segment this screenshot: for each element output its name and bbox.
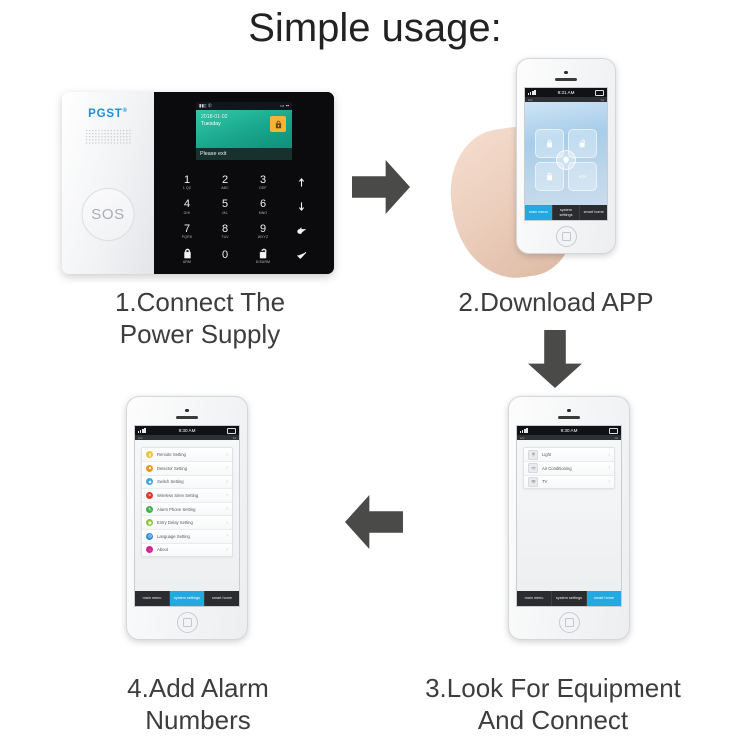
home-button[interactable] <box>177 612 198 633</box>
keypad-key-arm[interactable]: ARM <box>168 244 206 269</box>
list-item[interactable]: Alarm Phone Setting › <box>142 503 232 517</box>
back-arrow-icon[interactable] <box>282 219 320 244</box>
info-icon <box>146 546 153 553</box>
phone-icon <box>146 506 153 513</box>
keypad-key-4-label: 4 <box>184 199 190 210</box>
tab-main-menu[interactable]: main menu <box>525 205 553 220</box>
list-item-label: Entry Delay Setting <box>157 520 226 525</box>
list-item-label: Language Setting <box>157 534 226 539</box>
check-icon[interactable] <box>282 244 320 269</box>
phone-system-settings: 9:30 AM ▪▪▪▪▪▪▪ Remote Setting › <box>126 396 248 640</box>
tab-system-settings[interactable]: system settings <box>552 591 587 606</box>
status-sub-right: ▪▪▪ <box>601 98 604 102</box>
alarm-panel-right-face: ▮▮▯ ✆ ▭ ▪▪ 2018-01-02 Tuesday Please exi… <box>154 92 334 274</box>
phone-body: 9:30 AM ▪▪▪▪▪▪▪ Remote Setting › <box>126 396 248 640</box>
bottom-tab-bar[interactable]: main menu system settings smart home <box>517 591 621 606</box>
ac-icon <box>528 463 538 473</box>
alarm-panel-left-face: PGST® SOS <box>62 92 154 274</box>
tab-main-menu[interactable]: main menu <box>135 591 170 606</box>
status-sub-right: ▪▪▪ <box>615 436 618 440</box>
signal-icon <box>138 428 146 433</box>
lcd-bezel: ▮▮▯ ✆ ▭ ▪▪ 2018-01-02 Tuesday Please exi… <box>154 92 334 166</box>
keypad[interactable]: 11 QZ 2ABC 3DEF 4GHI 5JKL 6MNO 7PQRS 8TU… <box>154 166 334 274</box>
list-item[interactable]: About › <box>142 544 232 557</box>
keypad-key-5-label: 5 <box>222 199 228 210</box>
sos-button-label: SOS <box>91 206 124 223</box>
list-item-label: About <box>157 547 226 552</box>
list-item[interactable]: Air Conditioning › <box>524 462 614 476</box>
keypad-key-3-sub: DEF <box>259 186 266 190</box>
keypad-key-8-sub: TUV <box>221 235 228 239</box>
keypad-key-6-label: 6 <box>260 199 266 210</box>
tab-main-menu[interactable]: main menu <box>517 591 552 606</box>
chevron-right-icon: › <box>226 506 228 512</box>
list-item[interactable]: Switch Setting › <box>142 476 232 490</box>
chevron-right-icon: › <box>226 533 228 539</box>
arrow-up-icon[interactable] <box>282 170 320 195</box>
list-item-label: Wireless Siren Setting <box>157 493 226 498</box>
speaker-grille <box>85 129 131 145</box>
list-item[interactable]: Entry Delay Setting › <box>142 516 232 530</box>
phone-main-menu: 9:31 AM ▪▪▪▪▪▪▪ <box>516 58 616 254</box>
status-bar-top: 9:30 AM <box>135 426 239 435</box>
lcd-screen: ▮▮▯ ✆ ▭ ▪▪ 2018-01-02 Tuesday Please exi… <box>195 101 293 161</box>
globe-icon <box>146 533 153 540</box>
keypad-key-9-label: 9 <box>260 224 266 235</box>
status-bar: 9:31 AM ▪▪▪▪▪▪▪ <box>525 88 607 102</box>
list-item[interactable]: TV › <box>524 476 614 489</box>
tab-system-settings[interactable]: system settings <box>553 205 581 220</box>
keypad-key-3-label: 3 <box>260 175 266 186</box>
chevron-right-icon: › <box>226 520 228 526</box>
arrow-down-icon <box>528 330 582 388</box>
siren-icon <box>146 492 153 499</box>
camera-icon <box>564 71 567 74</box>
lock-icon <box>270 116 286 132</box>
phone-body: 9:31 AM ▪▪▪▪▪▪▪ <box>516 58 616 254</box>
home-button[interactable] <box>559 612 580 633</box>
earpiece-speaker <box>555 78 577 81</box>
list-item-label: Light <box>542 452 608 457</box>
phone-screen: 9:31 AM ▪▪▪▪▪▪▪ <box>524 87 608 221</box>
keypad-key-7-label: 7 <box>184 224 190 235</box>
keypad-key-0-label: 0 <box>222 250 228 261</box>
list-item-label: Air Conditioning <box>542 466 608 471</box>
pgst-logo: PGST® <box>88 108 128 120</box>
status-clock: 9:30 AM <box>561 428 578 433</box>
chevron-right-icon: › <box>226 465 228 471</box>
keypad-key-2[interactable]: 2ABC <box>206 170 244 195</box>
battery-icon <box>609 428 618 434</box>
status-bar: 9:30 AM ▪▪▪▪▪▪▪ <box>135 426 239 440</box>
chevron-right-icon: › <box>226 479 228 485</box>
keypad-key-7[interactable]: 7PQRS <box>168 219 206 244</box>
remote-icon <box>146 451 153 458</box>
chevron-right-icon: › <box>226 492 228 498</box>
keypad-key-0[interactable]: 0 <box>206 244 244 269</box>
phone-screen: 9:30 AM ▪▪▪▪▪▪▪ Remote Setting › <box>134 425 240 607</box>
smart-home-list: Light › Air Conditioning › TV › <box>523 447 615 489</box>
keypad-key-4-sub: GHI <box>184 211 191 215</box>
list-item[interactable]: Light › <box>524 448 614 462</box>
signal-icon <box>520 428 528 433</box>
chevron-right-icon: › <box>608 479 610 485</box>
keypad-key-disarm-sub: DISARM <box>256 260 270 264</box>
status-bar-top: 9:30 AM <box>517 426 621 435</box>
phone-screen: 9:30 AM ▪▪▪▪▪▪▪ Light › Ai <box>516 425 622 607</box>
status-clock: 9:31 AM <box>558 90 575 95</box>
bulb-icon <box>528 450 538 460</box>
arrow-left-icon <box>345 495 403 549</box>
keypad-key-2-sub: ABC <box>221 186 229 190</box>
app-main-menu-screen: SOS Video <box>525 102 607 220</box>
keypad-key-3[interactable]: 3DEF <box>244 170 282 195</box>
status-sub-left: ▪▪▪▪ <box>520 436 525 440</box>
keypad-key-1-sub: 1 QZ <box>183 186 191 190</box>
clock-icon <box>146 519 153 526</box>
shield-icon[interactable] <box>556 150 576 170</box>
list-item-label: TV <box>542 479 608 484</box>
home-button-square <box>562 232 571 241</box>
chevron-right-icon: › <box>608 465 610 471</box>
home-button-square <box>565 618 574 627</box>
smart-home-screen: Light › Air Conditioning › TV › <box>517 440 621 606</box>
chevron-right-icon: › <box>226 452 228 458</box>
list-item[interactable]: Wireless Siren Setting › <box>142 489 232 503</box>
home-button[interactable] <box>556 226 577 247</box>
list-item[interactable]: Language Setting › <box>142 530 232 544</box>
bottom-tab-bar[interactable]: main menu system settings smart home <box>135 591 239 606</box>
status-sub-left: ▪▪▪▪ <box>138 436 143 440</box>
keypad-key-6-sub: MNO <box>259 211 268 215</box>
status-bar-top: 9:31 AM <box>525 88 607 97</box>
keypad-key-2-label: 2 <box>222 175 228 186</box>
earpiece-speaker <box>558 416 580 419</box>
tab-smart-home[interactable]: smart home <box>580 205 607 220</box>
camera-icon <box>185 409 188 412</box>
list-item[interactable]: Remote Setting › <box>142 448 232 462</box>
list-item-label: Detector Setting <box>157 466 226 471</box>
keypad-key-8[interactable]: 8TUV <box>206 219 244 244</box>
list-item[interactable]: Detector Setting › <box>142 462 232 476</box>
home-button-square <box>183 618 192 627</box>
settings-list: Remote Setting › Detector Setting › Swit… <box>141 447 233 557</box>
step-4-caption: 4.Add Alarm Numbers <box>38 672 358 736</box>
keypad-key-5-sub: JKL <box>222 211 228 215</box>
lcd-status-bar: ▮▮▯ ✆ ▭ ▪▪ <box>196 102 292 110</box>
status-sub-left: ▪▪▪▪ <box>528 98 533 102</box>
keypad-key-arm-sub: ARM <box>183 260 191 264</box>
page-title: Simple usage: <box>0 6 750 51</box>
camera-icon <box>567 409 570 412</box>
status-clock: 9:30 AM <box>179 428 196 433</box>
bottom-tab-bar[interactable]: main menu system settings smart home <box>525 205 607 220</box>
alarm-panel-device: PGST® SOS ▮▮▯ ✆ ▭ ▪▪ 2018-01-02 Tuesday <box>62 92 334 274</box>
status-sub-right: ▪▪▪ <box>233 436 236 440</box>
arrow-right-icon <box>352 160 410 214</box>
keypad-key-1[interactable]: 11 QZ <box>168 170 206 195</box>
tab-smart-home[interactable]: smart home <box>205 591 239 606</box>
pgst-logo-text: PGST <box>88 108 123 120</box>
tab-system-settings[interactable]: system settings <box>170 591 205 606</box>
sos-quadrant-label: SOS <box>579 175 587 179</box>
keypad-key-6[interactable]: 6MNO <box>244 195 282 220</box>
simple-usage-infographic: Simple usage: PGST® SOS ▮▮▯ ✆ ▭ ▪▪ 2018-… <box>0 0 750 750</box>
keypad-key-9[interactable]: 9WXYZ <box>244 219 282 244</box>
keypad-key-4[interactable]: 4GHI <box>168 195 206 220</box>
chevron-right-icon: › <box>608 452 610 458</box>
list-item-label: Switch Setting <box>157 479 226 484</box>
detector-icon <box>146 465 153 472</box>
status-bar: 9:30 AM ▪▪▪▪▪▪▪ <box>517 426 621 440</box>
sos-button[interactable]: SOS <box>82 188 135 241</box>
signal-icon <box>528 90 536 95</box>
earpiece-speaker <box>176 416 198 419</box>
quadrant-control-group: SOS <box>535 129 597 191</box>
lcd-battery-icon: ▭ ▪▪ <box>280 103 289 109</box>
battery-icon <box>227 428 236 434</box>
lcd-content: 2018-01-02 Tuesday <box>196 110 292 148</box>
step-2-caption: 2.Download APP <box>396 286 716 318</box>
lcd-signal-icon: ▮▮▯ ✆ <box>199 103 212 109</box>
keypad-key-9-sub: WXYZ <box>258 235 269 239</box>
keypad-key-7-sub: PQRS <box>182 235 192 239</box>
lcd-status-message: Please exit <box>196 148 292 160</box>
keypad-key-5[interactable]: 5JKL <box>206 195 244 220</box>
keypad-key-8-label: 8 <box>222 224 228 235</box>
system-settings-screen: Remote Setting › Detector Setting › Swit… <box>135 440 239 606</box>
phone-body: 9:30 AM ▪▪▪▪▪▪▪ Light › Ai <box>508 396 630 640</box>
list-item-label: Alarm Phone Setting <box>157 507 226 512</box>
step-3-caption: 3.Look For Equipment And Connect <box>383 672 723 736</box>
chevron-right-icon: › <box>226 547 228 553</box>
step-1-caption: 1.Connect The Power Supply <box>40 286 360 350</box>
keypad-key-disarm[interactable]: DISARM <box>244 244 282 269</box>
tab-smart-home[interactable]: smart home <box>587 591 621 606</box>
keypad-key-1-label: 1 <box>184 175 190 186</box>
switch-icon <box>146 478 153 485</box>
tv-icon <box>528 477 538 487</box>
battery-icon <box>595 90 604 96</box>
arrow-down-icon[interactable] <box>282 195 320 220</box>
phone-smart-home: 9:30 AM ▪▪▪▪▪▪▪ Light › Ai <box>508 396 630 640</box>
list-item-label: Remote Setting <box>157 452 226 457</box>
